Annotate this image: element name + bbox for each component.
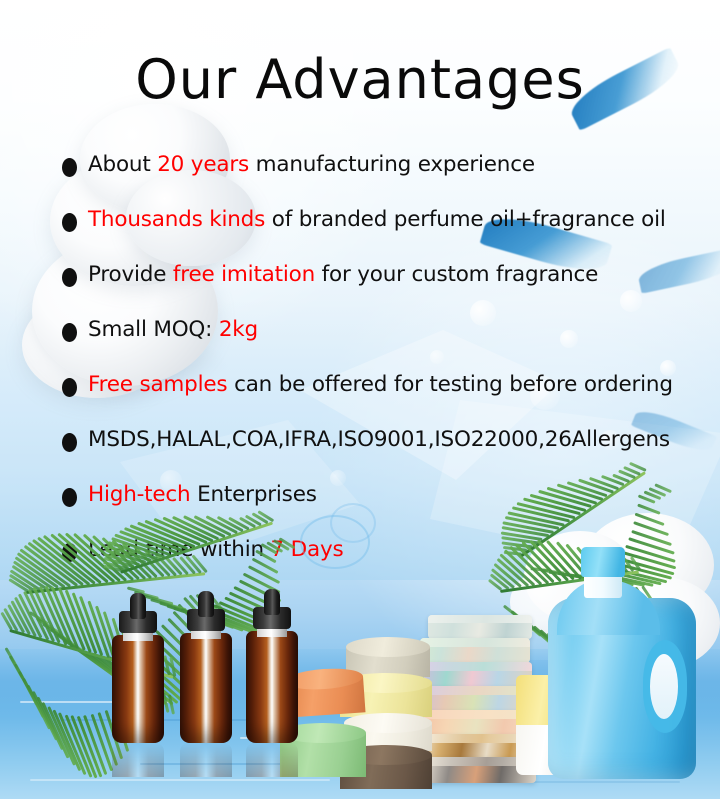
advantage-item: About 20 years manufacturing experience: [62, 152, 682, 207]
advantage-text: Small MOQ: 2kg: [88, 317, 258, 343]
detergent-jug: [548, 547, 696, 779]
water-ripple: [30, 779, 330, 781]
banner-stage: Our Advantages About 20 years manufactur…: [0, 0, 720, 799]
dropper-bottle: [180, 591, 232, 743]
banner-title: Our Advantages: [0, 52, 720, 109]
advantage-text: Thousands kinds of branded perfume oil+f…: [88, 207, 666, 233]
advantage-highlight: 2kg: [219, 317, 258, 342]
advantage-plain: Small MOQ:: [88, 317, 219, 342]
advantage-item: Small MOQ: 2kg: [62, 317, 682, 372]
bullet-dot-icon: [62, 378, 77, 397]
advantage-plain: Provide: [88, 262, 173, 287]
advantage-plain: for your custom fragrance: [315, 262, 598, 287]
advantage-item: Thousands kinds of branded perfume oil+f…: [62, 207, 682, 262]
advantage-item: Free samples can be offered for testing …: [62, 372, 682, 427]
advantage-text: Free samples can be offered for testing …: [88, 372, 673, 398]
dropper-bottle: [112, 593, 164, 743]
bullet-dot-icon: [62, 268, 77, 287]
advantage-plain: can be offered for testing before orderi…: [227, 372, 672, 397]
bullet-dot-icon: [62, 433, 77, 452]
advantage-plain: MSDS,HALAL,COA,IFRA,ISO9001,ISO22000,26A…: [88, 427, 670, 452]
advantage-plain: of branded perfume oil+fragrance oil: [265, 207, 666, 232]
advantage-text: Provide free imitation for your custom f…: [88, 262, 598, 288]
water-splash: [330, 503, 376, 543]
marbled-soap-bar: [428, 615, 532, 639]
bullet-dot-icon: [62, 213, 77, 232]
advantage-highlight: 20 years: [157, 152, 249, 177]
advantage-highlight: Thousands kinds: [88, 207, 265, 232]
advantage-highlight: free imitation: [173, 262, 315, 287]
advantage-item: Provide free imitation for your custom f…: [62, 262, 682, 317]
advantage-plain: manufacturing experience: [249, 152, 535, 177]
bullet-dot-icon: [62, 323, 77, 342]
bullet-dot-icon: [62, 158, 77, 177]
dropper-bottle: [246, 589, 298, 743]
marbled-soap-bar: [418, 686, 530, 711]
product-scene: [0, 499, 720, 799]
advantage-plain: About: [88, 152, 157, 177]
advantage-text: MSDS,HALAL,COA,IFRA,ISO9001,ISO22000,26A…: [88, 427, 670, 453]
advantage-highlight: Free samples: [88, 372, 227, 397]
marbled-soap-bar: [420, 638, 530, 663]
advantage-text: About 20 years manufacturing experience: [88, 152, 535, 178]
